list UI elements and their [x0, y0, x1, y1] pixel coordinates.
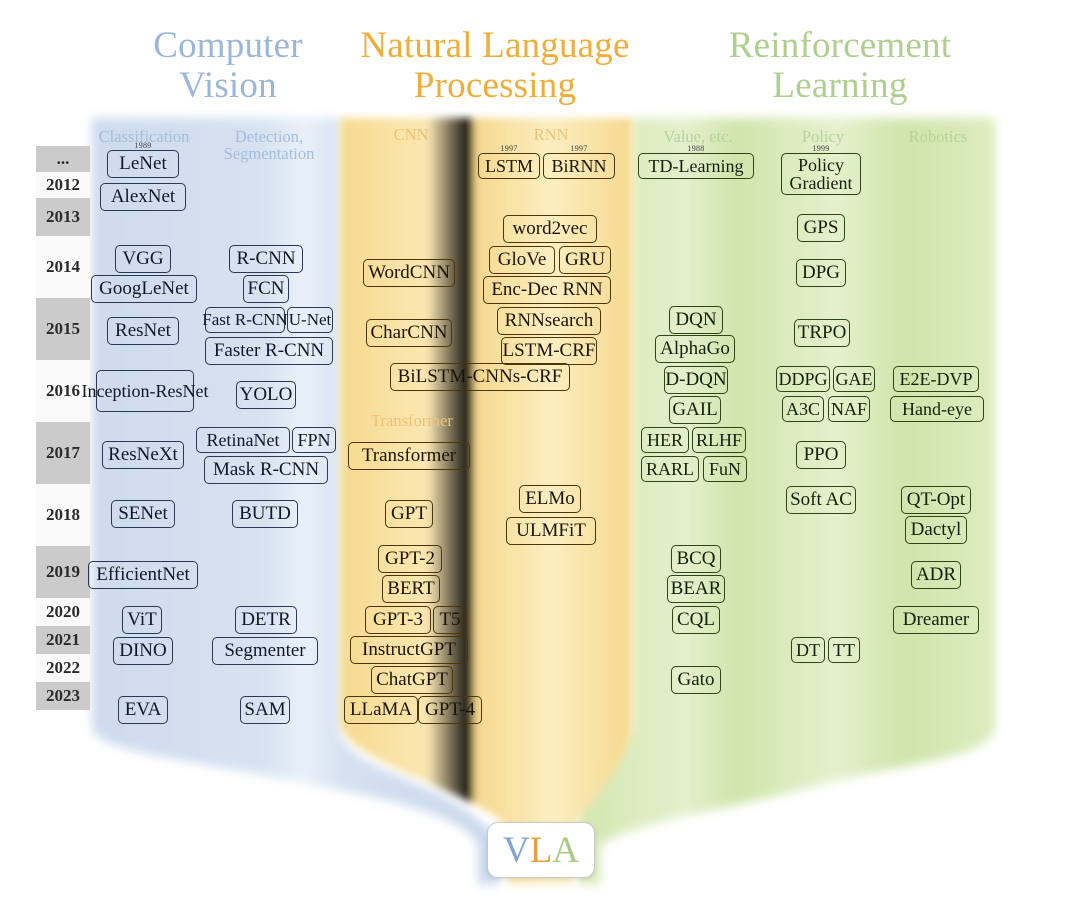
model-node-resnet[interactable]: ResNet [107, 317, 179, 345]
model-node-alphago[interactable]: AlphaGo [655, 335, 735, 363]
model-node-glove[interactable]: GloVe [489, 246, 555, 274]
year-label-earlier: ... [36, 146, 90, 172]
vla-node[interactable]: VLA [487, 822, 595, 878]
model-node-fast-r-cnn[interactable]: Fast R-CNN [205, 307, 285, 333]
model-node-label: QT-Opt [907, 490, 965, 509]
model-node-label: CQL [677, 610, 715, 629]
model-node-gpt-2[interactable]: GPT-2 [378, 545, 442, 573]
model-node-ddpg[interactable]: DDPG [776, 366, 830, 392]
model-node-label: GAE [836, 370, 873, 388]
model-node-label: ViT [127, 610, 156, 629]
model-node-vgg[interactable]: VGG [115, 245, 171, 273]
model-node-detr[interactable]: DETR [235, 606, 297, 634]
model-node-charcnn[interactable]: CharCNN [366, 319, 452, 347]
model-node-enc-dec-rnn[interactable]: Enc-Dec RNN [483, 276, 611, 304]
model-node-retinanet[interactable]: RetinaNet [196, 427, 290, 453]
title-computer-vision: Computer Vision [108, 26, 348, 106]
model-node-wordcnn[interactable]: WordCNN [363, 259, 455, 287]
model-node-label: Enc-Dec RNN [491, 280, 602, 299]
model-node-sam[interactable]: SAM [240, 696, 290, 724]
domain-titles: Computer Vision Natural Language Process… [0, 26, 1080, 122]
model-node-label: DT [796, 641, 820, 659]
model-node-faster-r-cnn[interactable]: Faster R-CNN [205, 337, 333, 365]
model-node-label: DDPG [779, 370, 828, 388]
model-node-label: EVA [125, 700, 162, 719]
model-node-label: Fast R-CNN [202, 311, 287, 328]
model-node-label: Transformer [362, 446, 456, 465]
model-node-t5[interactable]: T5 [433, 606, 467, 634]
model-node-label: E2E-DVP [900, 370, 973, 388]
model-node-label: GAIL [672, 400, 717, 419]
model-node-a3c[interactable]: A3C [782, 396, 824, 422]
year-label-2023: 2023 [36, 682, 90, 710]
model-node-label: ELMo [525, 489, 575, 508]
model-node-senet[interactable]: SENet [111, 500, 175, 528]
model-node-label: Dactyl [911, 520, 962, 539]
model-node-dino[interactable]: DINO [113, 637, 173, 665]
model-node-year-superscript: 1997 [500, 145, 517, 153]
model-node-label: AlphaGo [660, 339, 730, 358]
model-node-label: SAM [244, 700, 285, 719]
model-node-year-superscript: 1999 [812, 145, 829, 153]
model-node-mask-r-cnn[interactable]: Mask R-CNN [204, 456, 328, 484]
model-node-label: Inception-ResNet [82, 382, 209, 400]
model-node-label: ResNeXt [108, 445, 178, 464]
model-node-yolo[interactable]: YOLO [236, 381, 296, 409]
model-node-label: TT [833, 641, 855, 659]
model-node-label: R-CNN [236, 249, 295, 268]
year-label-2017: 2017 [36, 422, 90, 484]
model-node-dactyl[interactable]: Dactyl [905, 516, 967, 544]
subcolumn-heading-robotics: Robotics [888, 128, 988, 145]
model-node-d-dqn[interactable]: D-DQN [664, 366, 728, 394]
model-node-label: GoogLeNet [99, 279, 189, 298]
model-node-label: Gato [678, 670, 715, 689]
model-node-label: PPO [804, 445, 839, 464]
model-node-gpt-3[interactable]: GPT-3 [365, 606, 431, 634]
model-node-label: HER [647, 431, 683, 449]
vla-letter-v: V [503, 829, 530, 872]
model-node-chatgpt[interactable]: ChatGPT [371, 666, 453, 694]
model-node-bert[interactable]: BERT [382, 575, 440, 603]
model-node-dpg[interactable]: DPG [796, 259, 846, 287]
model-node-label: ResNet [115, 321, 171, 340]
model-node-label: GRU [565, 250, 605, 269]
model-node-label: GPT-4 [425, 700, 475, 719]
model-node-efficientnet[interactable]: EfficientNet [88, 561, 198, 589]
year-label-2022: 2022 [36, 654, 90, 682]
model-node-bcq[interactable]: BCQ [671, 545, 721, 573]
model-node-label: WordCNN [368, 263, 450, 282]
model-node-year-superscript: 1997 [570, 145, 587, 153]
model-node-label: LSTM-CRF [503, 341, 596, 360]
model-node-bear[interactable]: BEAR [667, 575, 725, 603]
subcolumn-heading-transformer: Transformer [348, 412, 476, 429]
model-node-fpn[interactable]: FPN [292, 427, 336, 453]
model-node-label: Dreamer [903, 610, 969, 629]
model-node-label: YOLO [240, 385, 293, 404]
model-node-label: word2vec [513, 219, 588, 238]
year-label-2018: 2018 [36, 484, 90, 546]
model-node-gpt-4[interactable]: GPT-4 [418, 696, 482, 724]
model-node-label: BERT [387, 579, 434, 598]
model-node-label: Soft AC [790, 490, 852, 509]
model-node-transformer[interactable]: Transformer [348, 442, 470, 470]
model-node-segmenter[interactable]: Segmenter [212, 637, 318, 665]
model-node-label: RARL [646, 460, 694, 478]
model-node-instructgpt[interactable]: InstructGPT [350, 636, 468, 664]
model-node-label: FPN [297, 431, 330, 449]
year-label-2015: 2015 [36, 298, 90, 360]
model-node-label: BEAR [671, 579, 722, 598]
model-node-label: DETR [241, 610, 291, 629]
model-node-ulmfit[interactable]: ULMFiT [506, 517, 596, 545]
model-node-label: SENet [118, 504, 168, 523]
model-node-adr[interactable]: ADR [911, 561, 961, 589]
year-label-2019: 2019 [36, 546, 90, 598]
model-node-eva[interactable]: EVA [118, 696, 168, 724]
model-node-hand-eye[interactable]: Hand-eye [890, 396, 984, 422]
model-node-year-superscript: 1989 [134, 142, 151, 150]
year-label-2013: 2013 [36, 198, 90, 236]
year-label-2012: 2012 [36, 172, 90, 198]
model-node-year-superscript: 1988 [687, 145, 704, 153]
model-node-word2vec[interactable]: word2vec [503, 215, 597, 243]
model-node-label: RetinaNet [207, 431, 280, 449]
title-natural-language-processing: Natural Language Processing [330, 26, 660, 106]
model-node-label: BUTD [239, 504, 291, 523]
model-node-label: FCN [248, 279, 285, 298]
year-label-2014: 2014 [36, 236, 90, 298]
model-node-inception-resnet[interactable]: Inception-ResNet [96, 370, 194, 412]
model-node-label: RLHF [696, 431, 742, 449]
model-node-label: DPG [802, 263, 840, 282]
model-node-u-net[interactable]: U-Net [287, 307, 333, 333]
model-node-label: DQN [675, 310, 716, 329]
model-node-td-learning[interactable]: TD-Learning1988 [638, 153, 754, 179]
model-node-label: TRPO [798, 323, 847, 342]
model-node-label: GloVe [498, 250, 547, 269]
model-node-lstm-crf[interactable]: LSTM-CRF [501, 337, 597, 365]
model-node-ppo[interactable]: PPO [796, 441, 846, 469]
model-node-label: InstructGPT [362, 640, 456, 659]
model-node-label: EfficientNet [96, 565, 190, 584]
model-node-her[interactable]: HER [641, 427, 689, 453]
model-node-label: GPS [804, 218, 839, 237]
model-node-label: RNNsearch [505, 311, 594, 330]
model-node-label: TD-Learning [649, 157, 744, 175]
model-node-label: NAF [831, 400, 867, 418]
model-node-label: BCQ [676, 549, 715, 568]
model-node-fcn[interactable]: FCN [243, 275, 289, 303]
model-node-label: LSTM [485, 157, 533, 175]
title-reinforcement-learning: Reinforcement Learning [660, 26, 1020, 106]
model-node-dt[interactable]: DT [791, 637, 825, 663]
model-node-label: T5 [439, 610, 460, 629]
model-node-label: LLaMA [350, 700, 412, 719]
model-node-trpo[interactable]: TRPO [794, 319, 850, 347]
model-node-llama[interactable]: LLaMA [344, 696, 418, 724]
model-node-bilstm-cnns-crf[interactable]: BiLSTM-CNNs-CRF [390, 363, 570, 391]
model-node-label: CharCNN [370, 323, 447, 342]
year-label-2021: 2021 [36, 626, 90, 654]
model-node-lenet[interactable]: LeNet1989 [107, 150, 179, 178]
model-node-label: GPT-2 [385, 549, 435, 568]
model-node-label: A3C [786, 400, 820, 418]
subcolumn-heading-value-etc: Value, etc. [640, 128, 756, 145]
subcolumn-heading-cnn: CNN [358, 126, 464, 143]
model-node-naf[interactable]: NAF [828, 396, 870, 422]
model-node-label: BiLSTM-CNNs-CRF [398, 367, 563, 386]
model-node-label: AlexNet [111, 187, 175, 206]
year-axis: ...2012201320142015201620172018201920202… [36, 146, 90, 710]
model-node-label: DINO [119, 641, 167, 660]
model-node-fun[interactable]: FuN [703, 456, 747, 482]
model-node-resnext[interactable]: ResNeXt [102, 441, 184, 469]
model-node-gae[interactable]: GAE [833, 366, 875, 392]
model-node-birnn[interactable]: BiRNN1997 [543, 153, 615, 179]
model-node-label: Hand-eye [902, 400, 972, 418]
model-node-tt[interactable]: TT [828, 637, 860, 663]
model-node-lstm[interactable]: LSTM1997 [478, 153, 540, 179]
model-node-googlenet[interactable]: GoogLeNet [91, 275, 197, 303]
model-node-label: Mask R-CNN [213, 460, 319, 479]
model-node-butd[interactable]: BUTD [232, 500, 298, 528]
model-node-e2e-dvp[interactable]: E2E-DVP [893, 366, 979, 392]
model-node-gru[interactable]: GRU [559, 246, 611, 274]
model-node-label: LeNet [119, 154, 166, 173]
vla-letter-l: L [530, 829, 553, 872]
model-node-r-cnn[interactable]: R-CNN [229, 245, 303, 273]
subcolumn-heading-policy: Policy [778, 128, 868, 145]
model-node-label: Faster R-CNN [214, 341, 324, 360]
model-node-rnnsearch[interactable]: RNNsearch [497, 307, 601, 335]
model-node-label: Segmenter [224, 641, 305, 660]
model-node-dreamer[interactable]: Dreamer [893, 606, 979, 634]
model-node-gpt[interactable]: GPT [385, 500, 433, 528]
model-node-vit[interactable]: ViT [122, 606, 162, 634]
model-node-label: U-Net [289, 311, 331, 328]
year-label-2020: 2020 [36, 598, 90, 626]
model-node-label: FuN [709, 460, 741, 478]
model-node-elmo[interactable]: ELMo [519, 485, 581, 513]
model-node-gps[interactable]: GPS [797, 214, 845, 242]
model-node-label: ChatGPT [376, 670, 448, 689]
model-node-soft-ac[interactable]: Soft AC [786, 486, 856, 514]
model-node-rarl[interactable]: RARL [641, 456, 699, 482]
model-node-rlhf[interactable]: RLHF [692, 427, 746, 453]
model-node-label: GPT-3 [373, 610, 423, 629]
model-node-label: Policy Gradient [786, 156, 856, 192]
model-node-label: ADR [916, 565, 956, 584]
model-node-dqn[interactable]: DQN [669, 306, 723, 334]
model-node-label: ULMFiT [516, 521, 586, 540]
model-node-label: BiRNN [551, 157, 606, 175]
vla-letter-a: A [552, 829, 579, 872]
subcolumn-heading-rnn: RNN [496, 126, 606, 143]
model-node-label: GPT [391, 504, 427, 523]
model-node-label: VGG [122, 249, 163, 268]
subcolumn-heading-detection-segmentation: Detection, Segmentation [208, 128, 330, 163]
model-node-gail[interactable]: GAIL [669, 396, 721, 424]
model-node-policy-gradient[interactable]: Policy Gradient1999 [781, 153, 861, 195]
model-node-alexnet[interactable]: AlexNet [100, 183, 186, 211]
model-node-qt-opt[interactable]: QT-Opt [901, 486, 971, 514]
model-node-cql[interactable]: CQL [672, 606, 720, 634]
model-node-gato[interactable]: Gato [671, 666, 721, 694]
model-node-label: D-DQN [665, 370, 726, 389]
